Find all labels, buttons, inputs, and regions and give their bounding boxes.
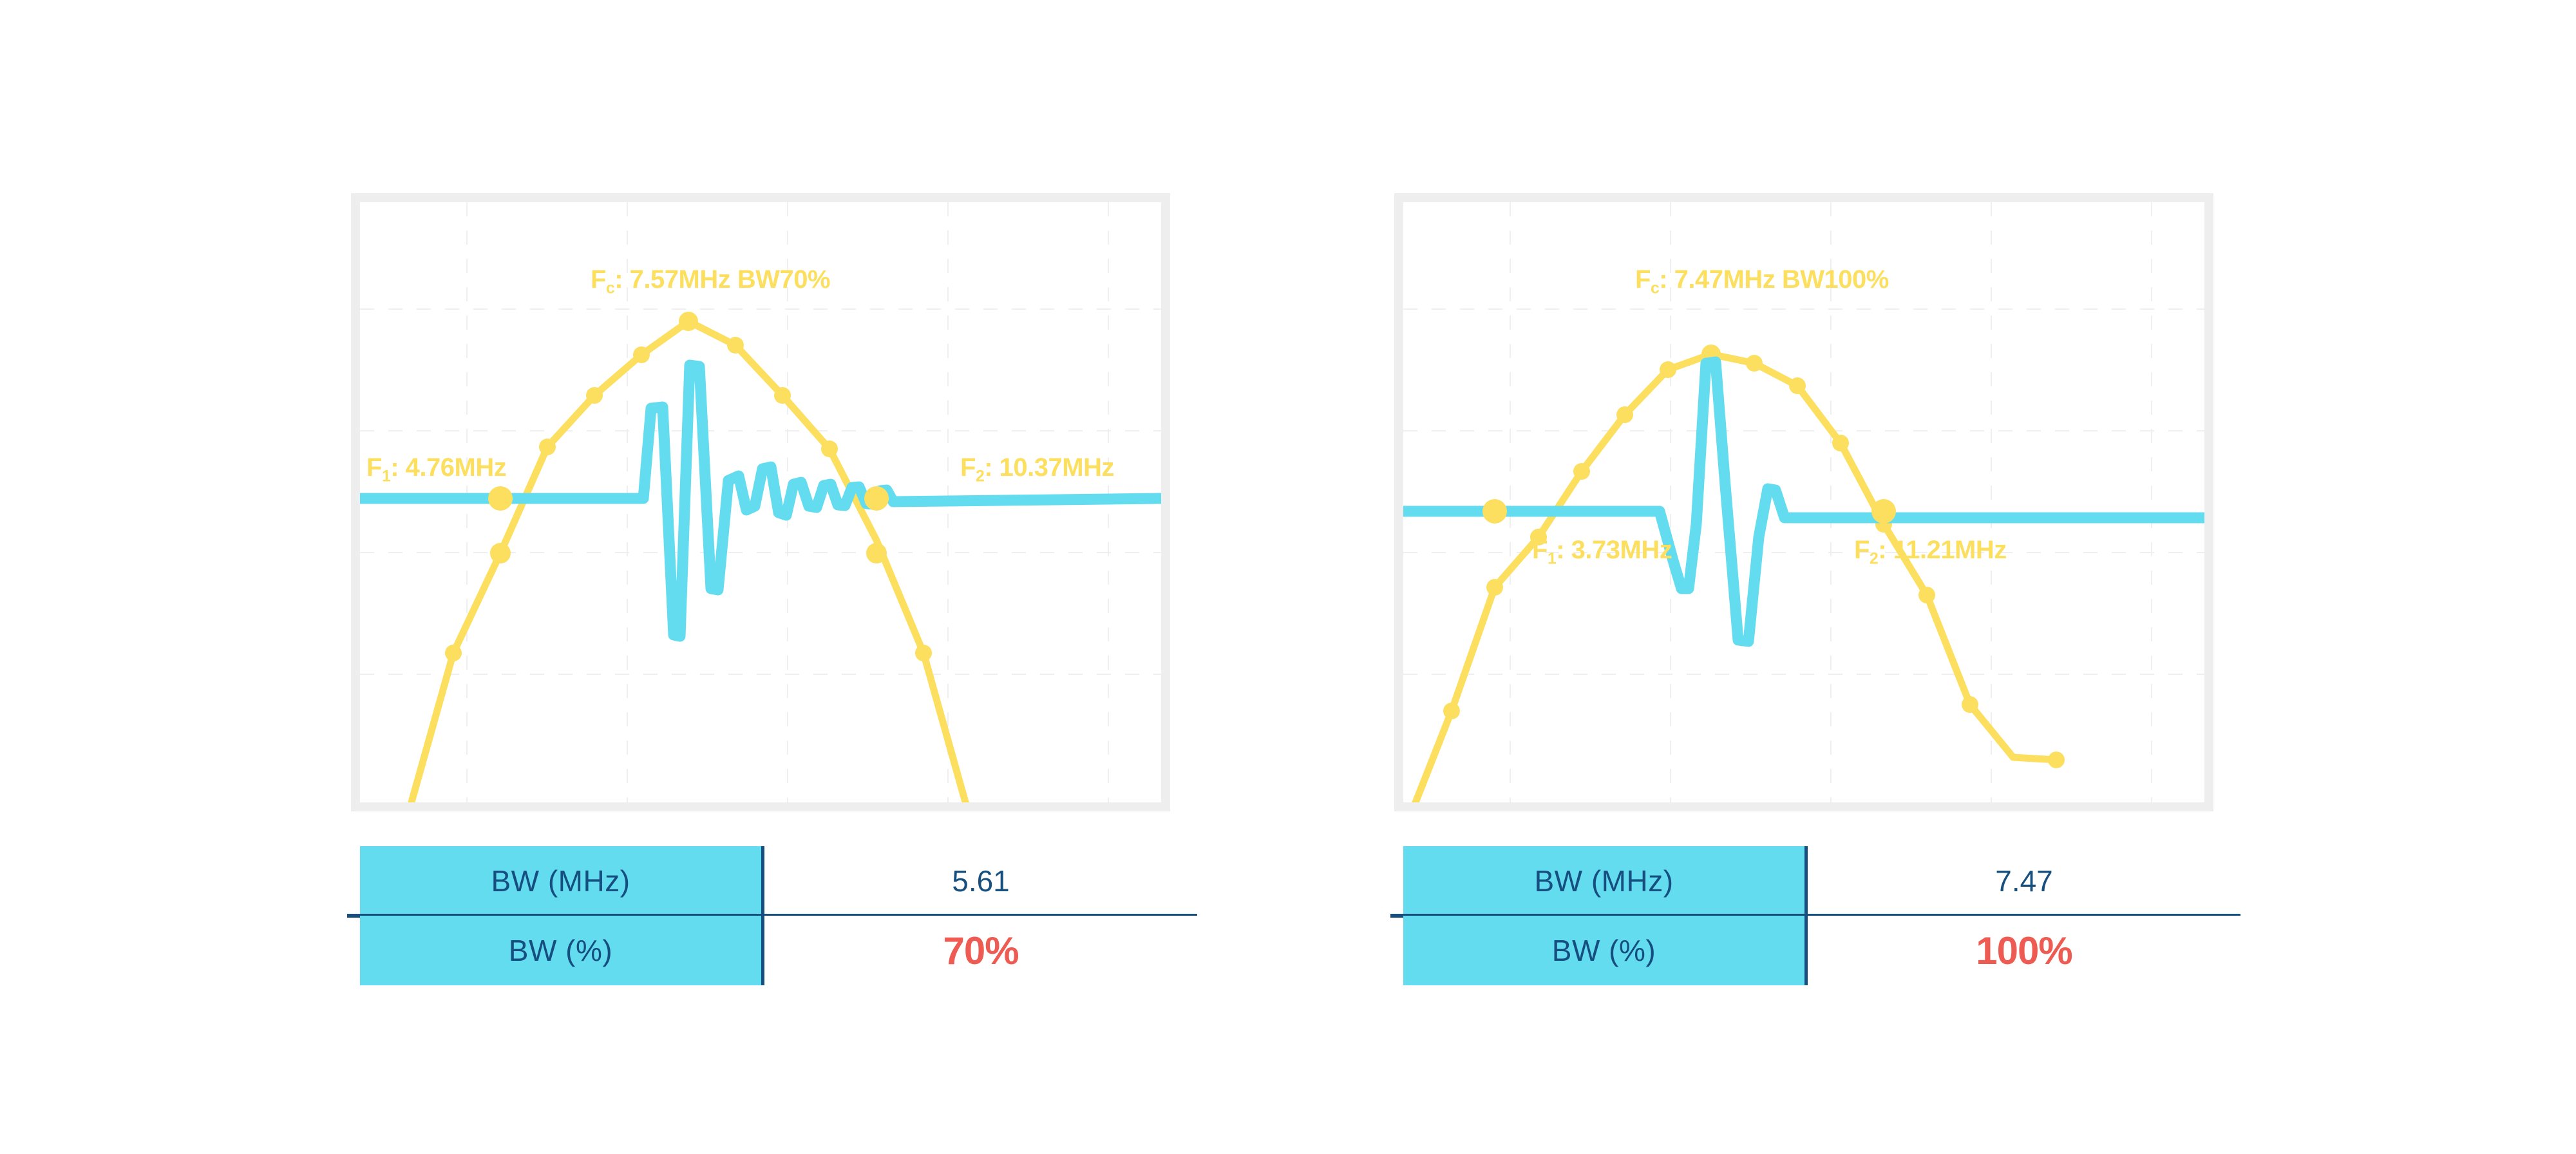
annotation-f2-right: F2: 11.21MHz: [1854, 537, 2007, 567]
plot-frame-right: Fc: 7.47MHz BW100% F1: 3.73MHz F2: 11.21…: [1394, 193, 2213, 811]
f1-value: : 3.73MHz: [1556, 536, 1672, 564]
table-key-cell: BW (%): [1403, 916, 1808, 985]
table-row: BW (%) 70%: [360, 916, 1197, 985]
plot-frame-left: Fc: 7.57MHz BW70% F1: 4.76MHz F2: 10.37M…: [351, 193, 1170, 811]
table-row: BW (MHz) 7.47: [1403, 846, 2240, 916]
table-value-percent: 100%: [1976, 929, 2072, 973]
table-value-mhz: 7.47: [1995, 864, 2053, 898]
f1-subscript: 1: [1548, 551, 1556, 568]
table-key-label: BW (MHz): [1534, 864, 1673, 898]
annotation-fc-right: Fc: 7.47MHz BW100%: [1635, 267, 1889, 297]
table-key-label: BW (%): [1552, 933, 1656, 968]
table-key-cell: BW (MHz): [1403, 846, 1808, 916]
f2-symbol: F: [960, 453, 976, 482]
table-value-mhz: 5.61: [952, 864, 1010, 898]
table-value-cell: 70%: [764, 916, 1197, 985]
f2-subscript: 2: [1870, 551, 1878, 568]
f2-value: : 11.21MHz: [1878, 536, 2007, 564]
table-value-cell: 5.61: [764, 846, 1197, 916]
table-row: BW (MHz) 5.61: [360, 846, 1197, 916]
f1-value: : 4.76MHz: [390, 453, 506, 482]
table-row: BW (%) 100%: [1403, 916, 2240, 985]
table-value-cell: 100%: [1808, 916, 2240, 985]
f2-subscript: 2: [976, 468, 984, 486]
table-value-cell: 7.47: [1808, 846, 2240, 916]
annotation-f1-right: F1: 3.73MHz: [1532, 537, 1672, 567]
fc-symbol: F: [1635, 265, 1651, 294]
annotation-fc-left: Fc: 7.57MHz BW70%: [591, 267, 830, 297]
f1-symbol: F: [1532, 536, 1548, 564]
panel-right: Fc: 7.47MHz BW100% F1: 3.73MHz F2: 11.21…: [1394, 193, 2213, 811]
f1-subscript: 1: [382, 468, 390, 486]
table-key-cell: BW (%): [360, 916, 764, 985]
fc-value: : 7.57MHz BW70%: [614, 265, 830, 294]
table-value-percent: 70%: [943, 929, 1018, 973]
fc-subscript: c: [1651, 280, 1659, 298]
annotation-f2-left: F2: 10.37MHz: [960, 455, 1114, 485]
fc-subscript: c: [606, 280, 614, 298]
fc-symbol: F: [591, 265, 606, 294]
annotation-f1-left: F1: 4.76MHz: [366, 455, 506, 485]
f1-symbol: F: [366, 453, 382, 482]
bw-table-right: BW (MHz) 7.47 BW (%) 100%: [1403, 846, 2240, 1039]
table-key-cell: BW (MHz): [360, 846, 764, 916]
f2-value: : 10.37MHz: [984, 453, 1114, 482]
figure-canvas: Fc: 7.57MHz BW70% F1: 4.76MHz F2: 10.37M…: [0, 0, 2576, 1154]
bw-table-left: BW (MHz) 5.61 BW (%) 70%: [360, 846, 1197, 1039]
table-key-label: BW (%): [509, 933, 612, 968]
f2-symbol: F: [1854, 536, 1870, 564]
panel-left: Fc: 7.57MHz BW70% F1: 4.76MHz F2: 10.37M…: [351, 193, 1170, 811]
fc-value: : 7.47MHz BW100%: [1659, 265, 1889, 294]
pulse-waveform-right: [1403, 362, 2204, 641]
table-key-label: BW (MHz): [491, 864, 630, 898]
